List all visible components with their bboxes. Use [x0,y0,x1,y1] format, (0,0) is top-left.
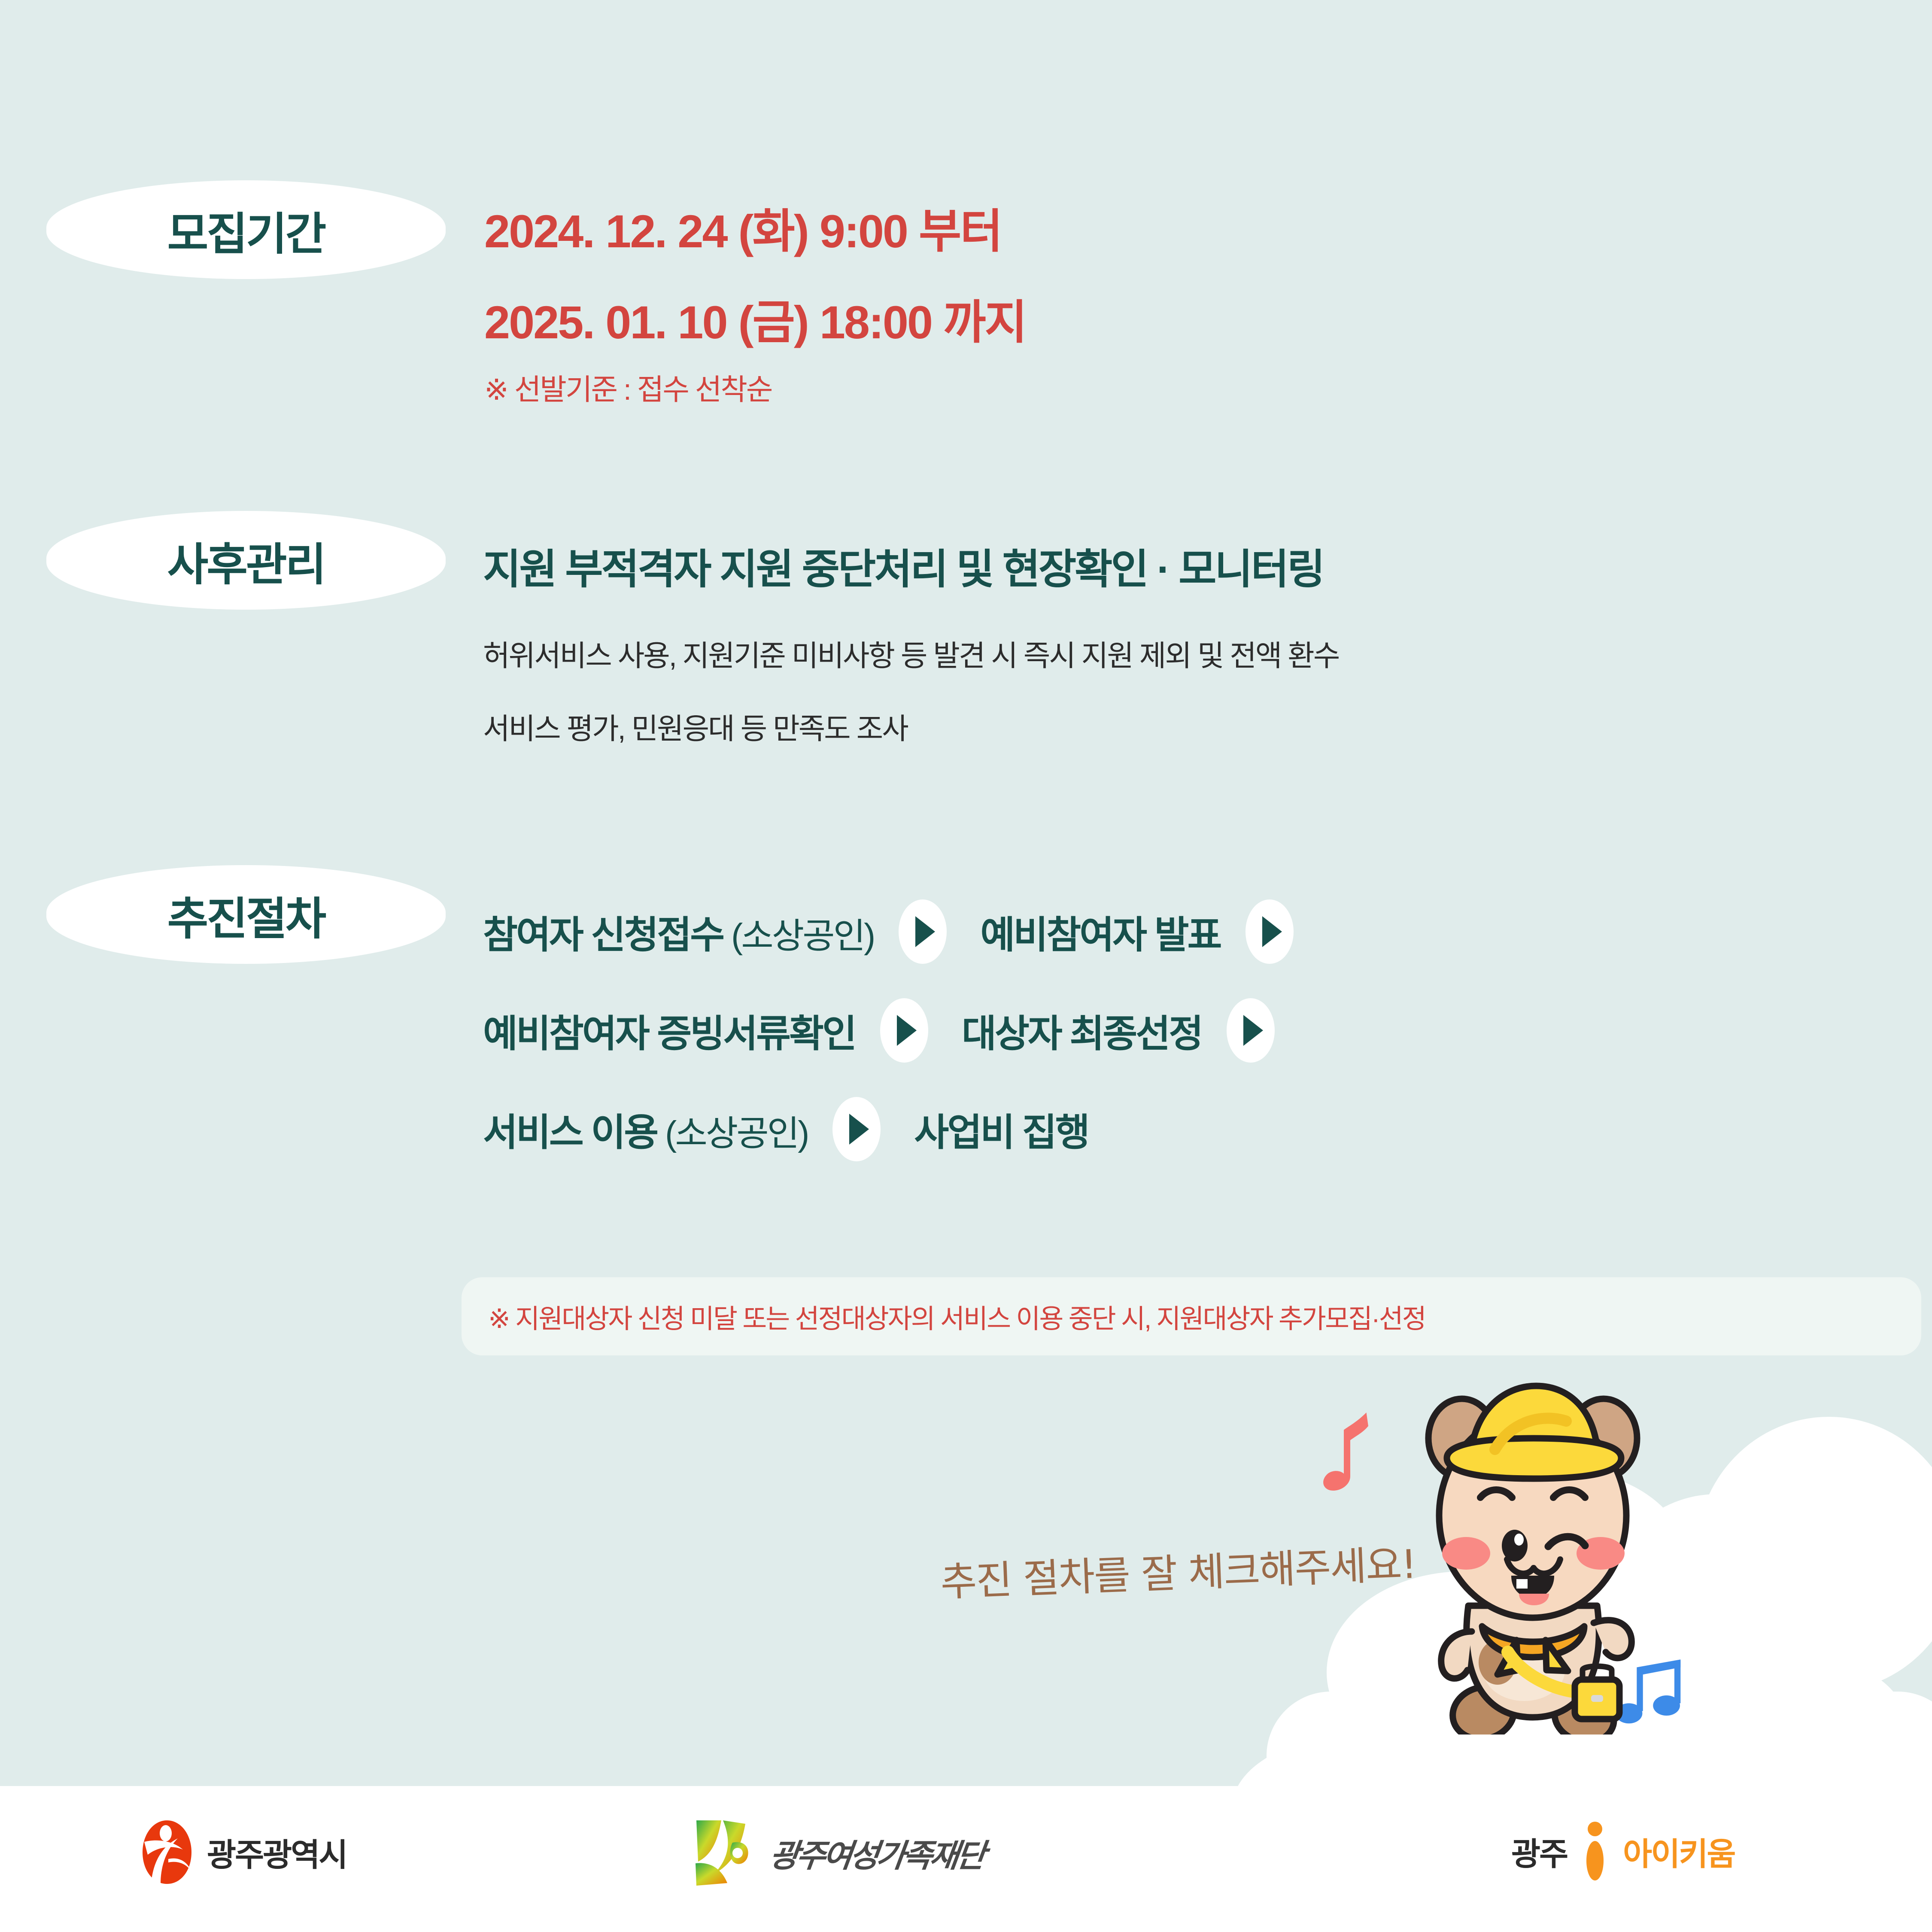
procedure-step-main: 대상자 최종선정 [962,1012,1202,1055]
procedure-step-main: 예비참여자 발표 [980,914,1220,956]
follow-up-sub-line-1: 허위서비스 사용, 지원기준 미비사항 등 발견 시 즉시 지원 제외 및 전액… [483,632,1339,674]
poster-canvas: 모집기간 2024. 12. 24 (화) 9:00 부터 2025. 01. … [0,0,1932,1932]
procedure-step: 서비스 이용 (소상공인) [483,1102,808,1157]
arrow-right-icon [1245,899,1294,964]
procedure-step: 사업비 집행 [914,1102,1088,1157]
logo-gwangju-women-family-foundation: 광주여성가족재단 [691,1819,984,1887]
music-note-pink-icon [1318,1408,1382,1494]
arrow-right-icon [880,998,928,1063]
procedure-row: 참여자 신청접수 (소상공인) 예비참여자 발표 [483,882,1857,981]
logo-text: 광주여성가족재단 [767,1830,986,1876]
follow-up-sub-line-2: 서비스 평가, 민원응대 등 만족도 조사 [483,705,908,747]
procedure-row: 서비스 이용 (소상공인) 사업비 집행 [483,1080,1857,1179]
procedure-row: 예비참여자 증빙서류확인 대상자 최종선정 [483,981,1857,1080]
period-line-end: 2025. 01. 10 (금) 18:00 까지 [484,285,1026,352]
pill-text: 사후관리 [167,528,325,593]
footer-logos: 광주광역시 광주여성가족재단 광주 [0,1786,1932,1932]
pill-text: 추진절차 [167,882,325,947]
logo-text-right: 아이키움 [1623,1829,1735,1874]
procedure-step-main: 예비참여자 증빙서류확인 [483,1012,855,1055]
gwangju-city-mark-icon [142,1820,192,1885]
pill-label-recruitment-period: 모집기간 [46,180,446,279]
arrow-right-icon [1227,998,1275,1063]
procedure-step: 예비참여자 발표 [980,905,1220,959]
period-line-start: 2024. 12. 24 (화) 9:00 부터 [484,194,1002,261]
logo-text-left: 광주 [1511,1829,1567,1874]
procedure-note-text: ※ 지원대상자 신청 미달 또는 선정대상자의 서비스 이용 중단 시, 지원대… [488,1297,1425,1336]
procedure-step-main: 참여자 신청접수 [483,914,723,956]
pill-label-procedure: 추진절차 [46,865,446,964]
period-selection-note: ※ 선발기준 : 접수 선착순 [484,366,772,408]
procedure-step: 대상자 최종선정 [962,1003,1202,1058]
procedure-flow: 참여자 신청접수 (소상공인) 예비참여자 발표 예비참여자 증빙서류확인 대상… [483,882,1857,1179]
logo-text: 광주광역시 [207,1829,346,1875]
logo-gwangju-city: 광주광역시 [142,1820,346,1885]
procedure-note-box: ※ 지원대상자 신청 미달 또는 선정대상자의 서비스 이용 중단 시, 지원대… [462,1277,1921,1355]
procedure-step-main: 사업비 집행 [914,1111,1088,1154]
procedure-step: 예비참여자 증빙서류확인 [483,1003,855,1058]
logo-gwangju-i-aikium: 광주 아이키움 [1511,1821,1735,1881]
procedure-step-paren: (소상공인) [657,1114,808,1153]
foundation-flower-mark-icon [691,1819,756,1887]
procedure-step-main: 서비스 이용 [483,1111,657,1154]
mascot-speech-text: 추진 절차를 잘 체크해주세요! [939,1532,1417,1607]
i-dot-mark-icon [1582,1821,1608,1881]
procedure-step-paren: (소상공인) [723,917,874,956]
procedure-step: 참여자 신청접수 (소상공인) [483,905,874,959]
quokka-mascot-icon [1382,1374,1683,1773]
follow-up-heading: 지원 부적격자 지원 중단처리 및 현장확인 · 모니터링 [483,536,1323,595]
pill-label-follow-up: 사후관리 [46,511,446,610]
arrow-right-icon [832,1097,881,1161]
pill-text: 모집기간 [167,197,325,262]
arrow-right-icon [899,899,947,964]
